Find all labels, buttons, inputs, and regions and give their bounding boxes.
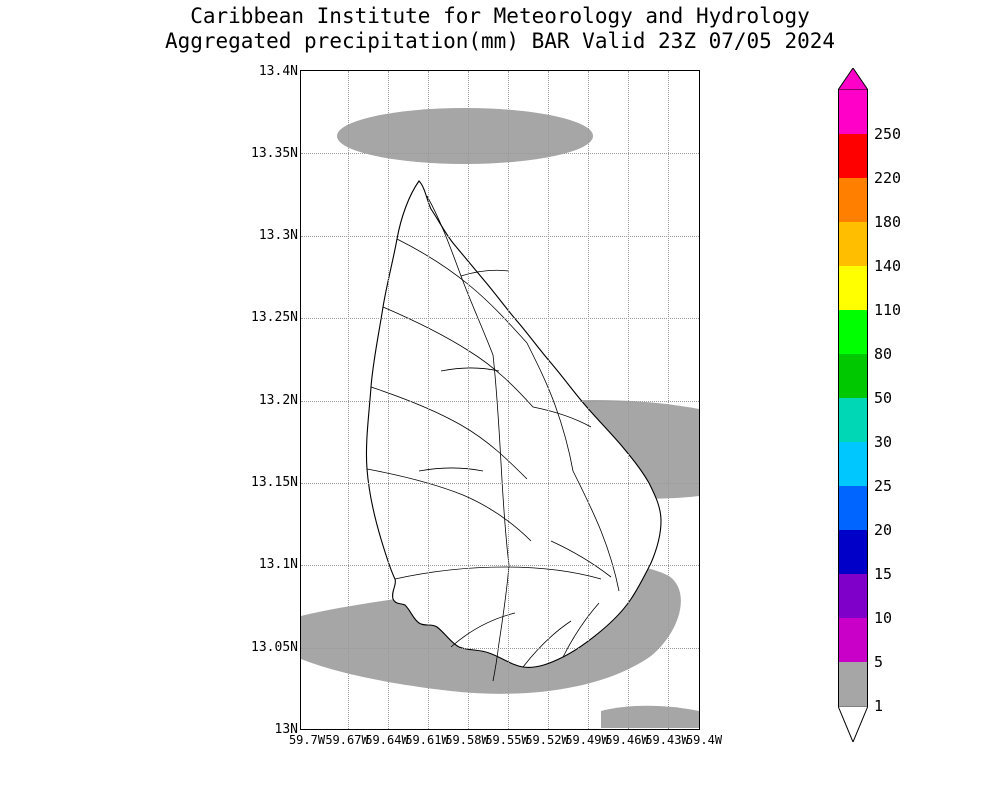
colorbar-tick-label: 250: [874, 125, 901, 143]
title-line-2: Aggregated precipitation(mm) BAR Valid 2…: [0, 29, 1000, 54]
grid-line-horizontal: [301, 236, 699, 237]
grid-line-horizontal: [301, 565, 699, 566]
colorbar-segment-1-5: [838, 662, 868, 706]
y-tick-label: 13.4N: [259, 64, 298, 79]
y-tick-label: 13.1N: [259, 557, 298, 572]
grid-line-vertical: [508, 71, 509, 729]
grid-line-horizontal: [301, 153, 699, 154]
colorbar-bottom-arrow: [838, 706, 868, 742]
grid-line-vertical: [428, 71, 429, 729]
colorbar-top-arrow: [838, 68, 868, 90]
colorbar-tick-label: 180: [874, 213, 901, 231]
colorbar-segment-180-220: [838, 178, 868, 222]
colorbar-tick-label: 1: [874, 697, 883, 715]
y-tick-label: 13.3N: [259, 228, 298, 243]
grid-line-vertical: [348, 71, 349, 729]
x-tick-label: 59.43W: [645, 733, 688, 747]
colorbar-segment-140-180: [838, 222, 868, 266]
grid-line-horizontal: [301, 483, 699, 484]
colorbar-segment-5-10: [838, 618, 868, 662]
colorbar-segment-15-20: [838, 530, 868, 574]
grid-line-horizontal: [301, 318, 699, 319]
grid-line-vertical: [628, 71, 629, 729]
x-tick-label: 59.52W: [525, 733, 568, 747]
x-tick-label: 59.67W: [325, 733, 368, 747]
x-tick-label: 59.46W: [605, 733, 648, 747]
y-tick-label: 13.05N: [251, 640, 298, 655]
grid-line-vertical: [468, 71, 469, 729]
colorbar-tick-label: 15: [874, 565, 892, 583]
colorbar-tick-label: 80: [874, 345, 892, 363]
colorbar-tick-label: 20: [874, 521, 892, 539]
y-tick-label: 13.15N: [251, 475, 298, 490]
colorbar-segment-50-80: [838, 354, 868, 398]
y-tick-label: 13.2N: [259, 393, 298, 408]
grid-line-horizontal: [301, 648, 699, 649]
map-plot-area: [300, 70, 700, 730]
colorbar-segment-220-250: [838, 134, 868, 178]
grid-line-horizontal: [301, 401, 699, 402]
grid-line-vertical: [668, 71, 669, 729]
colorbar-segment-80-110: [838, 310, 868, 354]
x-tick-label: 59.4W: [686, 733, 722, 747]
colorbar-segment-30-50: [838, 398, 868, 442]
colorbar-tick-label: 50: [874, 389, 892, 407]
colorbar-segment-250plus: [838, 90, 868, 134]
x-tick-label: 59.64W: [365, 733, 408, 747]
colorbar-segment-110-140: [838, 266, 868, 310]
grid-line-vertical: [548, 71, 549, 729]
colorbar-tick-label: 140: [874, 257, 901, 275]
colorbar-tick-label: 5: [874, 653, 883, 671]
colorbar: 250 220 180 140 110 80 50 30 25 20 15 10…: [838, 90, 868, 710]
title-line-1: Caribbean Institute for Meteorology and …: [0, 4, 1000, 29]
y-tick-label: 13.35N: [251, 146, 298, 161]
precipitation-map: [301, 71, 699, 729]
x-tick-label: 59.61W: [405, 733, 448, 747]
x-tick-label: 59.7W: [289, 733, 325, 747]
x-tick-label: 59.55W: [485, 733, 528, 747]
colorbar-segment-20-25: [838, 486, 868, 530]
colorbar-tick-label: 10: [874, 609, 892, 627]
grid-line-vertical: [588, 71, 589, 729]
colorbar-segment-10-15: [838, 574, 868, 618]
colorbar-tick-label: 220: [874, 169, 901, 187]
grid-line-vertical: [388, 71, 389, 729]
colorbar-tick-label: 30: [874, 433, 892, 451]
colorbar-tick-label: 110: [874, 301, 901, 319]
x-tick-label: 59.58W: [445, 733, 488, 747]
x-tick-label: 59.49W: [565, 733, 608, 747]
colorbar-tick-label: 25: [874, 477, 892, 495]
y-tick-label: 13.25N: [251, 310, 298, 325]
colorbar-segment-25-30: [838, 442, 868, 486]
chart-title: Caribbean Institute for Meteorology and …: [0, 4, 1000, 54]
